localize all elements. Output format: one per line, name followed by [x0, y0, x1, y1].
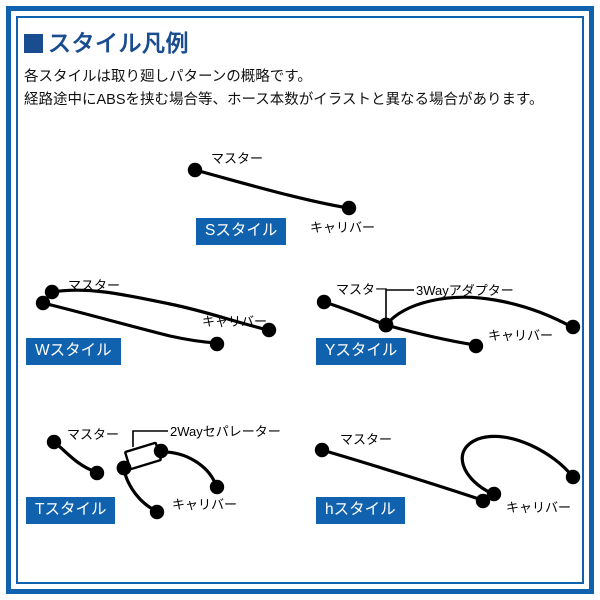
filled-square-icon: [24, 34, 43, 53]
caliper-node-upper: [154, 444, 168, 458]
hose-master-to-junction: [54, 442, 96, 472]
caliper-node-2: [469, 339, 483, 353]
master-node: [188, 163, 202, 177]
three-way-adapter-node: [379, 318, 394, 333]
master-node: [47, 435, 61, 449]
page-title: スタイル凡例: [24, 28, 576, 58]
junction-node-1: [90, 466, 104, 480]
caliper-node-2: [150, 505, 164, 519]
master-label: マスター: [336, 282, 388, 297]
header: スタイル凡例 各スタイルは取り廻しパターンの概略です。 経路途中にABSを挟む場…: [24, 28, 576, 112]
junction-node-2: [117, 461, 132, 476]
hose-master-to-caliper-2: [322, 450, 482, 500]
master-node: [317, 295, 331, 309]
master-label: マスター: [340, 432, 392, 447]
caliper-node-1: [566, 320, 580, 334]
caliper-label: キャリバー: [488, 328, 553, 343]
caliper-node-1: [566, 470, 580, 484]
style-legend-page: スタイル凡例 各スタイルは取り廻しパターンの概略です。 経路途中にABSを挟む場…: [0, 0, 600, 600]
hose-path: [195, 170, 348, 208]
chip-y-style[interactable]: Yスタイル: [316, 338, 406, 365]
page-title-text: スタイル凡例: [48, 32, 189, 55]
description-line-1: 各スタイルは取り廻しパターンの概略です。: [24, 67, 576, 88]
master-node-2: [36, 296, 50, 310]
caliper-label: キャリバー: [172, 497, 237, 512]
caliper-node-2: [210, 337, 224, 351]
hose-loop: [462, 436, 572, 494]
two-way-separator-label: 2Wayセパレーター: [170, 424, 281, 439]
description-line-2: 経路途中にABSを挟む場合等、ホース本数がイラストと異なる場合があります。: [24, 90, 576, 111]
master-label: マスター: [68, 278, 120, 293]
chip-t-style[interactable]: Tスタイル: [26, 497, 115, 524]
master-label: マスター: [211, 151, 263, 166]
hose-adapter-to-caliper-1: [386, 297, 572, 327]
caliper-node: [342, 201, 356, 215]
chip-w-style[interactable]: Wスタイル: [26, 338, 121, 365]
three-way-adapter-label: 3Wayアダプター: [416, 283, 514, 298]
hose-master-to-adapter: [324, 302, 386, 325]
chip-h-style[interactable]: hスタイル: [316, 497, 405, 524]
caliper-label: キャリバー: [202, 314, 267, 329]
caliper-label: キャリバー: [506, 500, 571, 515]
hose-junction-to-caliper-2: [124, 470, 156, 511]
master-node: [315, 443, 329, 457]
chip-s-style[interactable]: Sスタイル: [196, 218, 286, 245]
caliper-label: キャリバー: [310, 220, 375, 235]
adapter-leader-line: [386, 290, 414, 321]
caliper-node-3: [487, 487, 501, 501]
caliper-node-1: [210, 480, 224, 494]
master-label: マスター: [67, 427, 119, 442]
hose-separator-to-caliper-1: [160, 452, 216, 485]
